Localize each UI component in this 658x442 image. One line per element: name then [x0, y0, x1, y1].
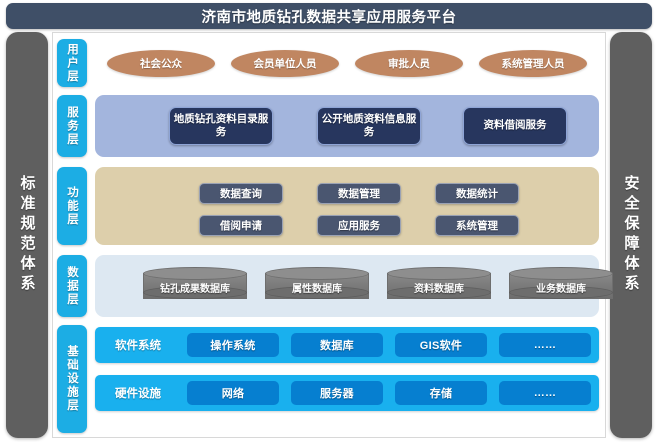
page-title: 济南市地质钻孔数据共享应用服务平台	[202, 6, 457, 27]
function-button-data-management[interactable]: 数据管理	[317, 183, 401, 204]
hardware-button-more[interactable]: ……	[499, 381, 591, 405]
user-role-item[interactable]: 审批人员	[355, 50, 463, 77]
software-button-database[interactable]: 数据库	[291, 333, 383, 357]
hardware-button-network[interactable]: 网络	[187, 381, 279, 405]
software-button-more[interactable]: ……	[499, 333, 591, 357]
left-standard-system-bar: 标准规范体系	[6, 32, 48, 438]
function-button-label: 数据查询	[220, 186, 262, 201]
database-label: 业务数据库	[509, 279, 613, 295]
hardware-button-server[interactable]: 服务器	[291, 381, 383, 405]
function-button-data-query[interactable]: 数据查询	[199, 183, 283, 204]
user-role-item[interactable]: 会员单位人员	[231, 50, 339, 77]
hardware-button-label: 存储	[430, 385, 453, 401]
infrastructure-hardware-row: 硬件设施 网络 服务器 存储 ……	[95, 375, 599, 411]
user-role-label: 社会公众	[140, 56, 182, 71]
user-role-label: 系统管理人员	[502, 56, 565, 71]
user-role-label: 会员单位人员	[254, 56, 317, 71]
platform-title-bar: 济南市地质钻孔数据共享应用服务平台	[6, 3, 652, 29]
database-cylinder-business[interactable]: 业务数据库	[509, 267, 613, 305]
user-layer-body: 社会公众 会员单位人员 审批人员 系统管理人员	[95, 39, 599, 87]
function-button-label: 系统管理	[456, 218, 498, 233]
user-role-item[interactable]: 系统管理人员	[479, 50, 587, 77]
service-button-catalog[interactable]: 地质钻孔资料目录服务	[169, 107, 273, 145]
function-button-label: 借阅申请	[220, 218, 262, 233]
service-button-label: 资料借阅服务	[484, 119, 547, 132]
right-bar-label: 安全保障体系	[621, 175, 642, 295]
hardware-button-label: ……	[534, 387, 557, 399]
software-button-label: GIS软件	[420, 337, 462, 353]
database-label: 属性数据库	[265, 279, 369, 295]
layer-tab-infrastructure-label: 基础设施层	[64, 345, 80, 413]
layer-tab-user[interactable]: 用户层	[57, 39, 87, 87]
function-button-borrow-request[interactable]: 借阅申请	[199, 215, 283, 236]
service-button-label: 公开地质资料信息服务	[318, 113, 420, 139]
software-button-label: 数据库	[320, 337, 354, 353]
database-label: 资料数据库	[387, 279, 491, 295]
user-role-label: 审批人员	[388, 56, 430, 71]
database-cylinder-material[interactable]: 资料数据库	[387, 267, 491, 305]
function-button-label: 应用服务	[338, 218, 380, 233]
database-label: 钻孔成果数据库	[143, 279, 247, 295]
software-cells: 操作系统 数据库 GIS软件 ……	[181, 333, 599, 357]
layer-tab-function[interactable]: 功能层	[57, 167, 87, 245]
function-layer-panel: 数据查询 数据管理 数据统计 借阅申请 应用服务 系统管理	[95, 167, 599, 245]
function-button-data-statistics[interactable]: 数据统计	[435, 183, 519, 204]
layer-tab-data[interactable]: 数据层	[57, 255, 87, 317]
service-button-public-info[interactable]: 公开地质资料信息服务	[317, 107, 421, 145]
function-button-label: 数据统计	[456, 186, 498, 201]
function-button-application-service[interactable]: 应用服务	[317, 215, 401, 236]
software-button-label: 操作系统	[210, 337, 255, 353]
hardware-button-storage[interactable]: 存储	[395, 381, 487, 405]
layer-tab-function-label: 功能层	[64, 186, 80, 227]
database-cylinder-drilling-results[interactable]: 钻孔成果数据库	[143, 267, 247, 305]
software-button-os[interactable]: 操作系统	[187, 333, 279, 357]
hardware-cells: 网络 服务器 存储 ……	[181, 381, 599, 405]
service-button-borrowing[interactable]: 资料借阅服务	[463, 107, 567, 145]
left-bar-label: 标准规范体系	[17, 175, 38, 295]
right-security-system-bar: 安全保障体系	[610, 32, 652, 438]
layers-container: 用户层 社会公众 会员单位人员 审批人员 系统管理人员 服务层	[52, 32, 606, 438]
service-button-label: 地质钻孔资料目录服务	[170, 113, 272, 139]
software-button-label: ……	[534, 339, 557, 351]
layer-tab-service[interactable]: 服务层	[57, 95, 87, 157]
hardware-button-label: 网络	[222, 385, 245, 401]
function-button-label: 数据管理	[338, 186, 380, 201]
software-button-gis[interactable]: GIS软件	[395, 333, 487, 357]
software-row-label: 软件系统	[95, 337, 181, 353]
user-role-item[interactable]: 社会公众	[107, 50, 215, 77]
hardware-button-label: 服务器	[320, 385, 354, 401]
database-cylinder-attribute[interactable]: 属性数据库	[265, 267, 369, 305]
infrastructure-software-row: 软件系统 操作系统 数据库 GIS软件 ……	[95, 327, 599, 363]
layer-tab-infrastructure[interactable]: 基础设施层	[57, 325, 87, 433]
service-layer-panel: 地质钻孔资料目录服务 公开地质资料信息服务 资料借阅服务	[95, 95, 599, 157]
layer-tab-data-label: 数据层	[64, 266, 80, 307]
layer-tab-service-label: 服务层	[64, 106, 80, 147]
architecture-diagram: 济南市地质钻孔数据共享应用服务平台 标准规范体系 安全保障体系 用户层 社会公众…	[0, 0, 658, 442]
data-layer-panel: 钻孔成果数据库 属性数据库 资料数据库 业务数据库	[95, 255, 599, 317]
function-button-system-management[interactable]: 系统管理	[435, 215, 519, 236]
hardware-row-label: 硬件设施	[95, 385, 181, 401]
layer-tab-user-label: 用户层	[64, 43, 80, 84]
